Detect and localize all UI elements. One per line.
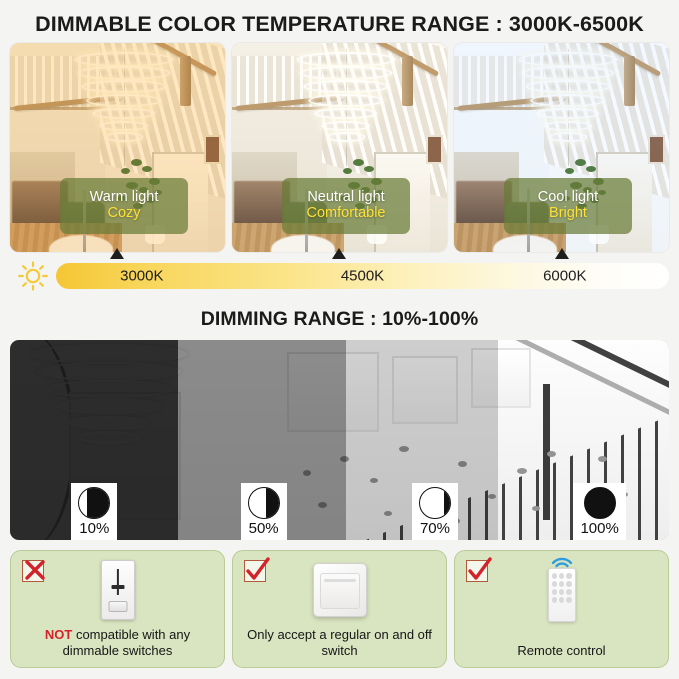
compatibility-card-dimmer-switch: NOT compatible with any dimmable switche… [10, 550, 225, 668]
dimming-range-photo: 10% 50% 70% 100% [10, 340, 669, 540]
remote-control-icon [455, 557, 668, 623]
dim-badge-label: 10% [79, 520, 109, 539]
dim-level-indicator-icon [248, 487, 280, 519]
cct-label-main: Neutral light [307, 190, 384, 206]
cct-label-cool: Cool light Bright [504, 178, 632, 234]
cct-label-neutral: Neutral light Comfortable [282, 178, 410, 234]
compatibility-card-rocker-switch: Only accept a regular on and off switch [232, 550, 447, 668]
compatibility-card-row: NOT compatible with any dimmable switche… [10, 550, 669, 668]
dim-badge-70: 70% [412, 483, 458, 540]
compatibility-card-text: NOT compatible with any dimmable switche… [17, 627, 218, 659]
dim-badge-label: 50% [249, 520, 279, 539]
cct-label-sub: Cozy [107, 206, 140, 222]
dim-badge-10: 10% [71, 483, 117, 540]
page-title-dimming-range: DIMMING RANGE : 10%-100% [0, 308, 679, 331]
compatibility-card-text-rest: compatible with any dimmable switches [63, 627, 191, 658]
ring-chandelier-icon [297, 49, 396, 166]
cct-stop-label-4500k: 4500K [341, 267, 384, 284]
dimmer-switch-icon [11, 557, 224, 623]
cct-stop-label-6000k: 6000K [543, 267, 586, 284]
dim-level-indicator-icon [419, 487, 451, 519]
page-title-color-temperature: DIMMABLE COLOR TEMPERATURE RANGE : 3000K… [0, 12, 679, 37]
color-temperature-gradient-bar: 3000K 4500K 6000K [56, 263, 669, 289]
dim-level-indicator-icon [584, 487, 616, 519]
dim-badge-label: 70% [420, 520, 450, 539]
dim-level-indicator-icon [78, 487, 110, 519]
color-temperature-scale: 3000K 4500K 6000K [10, 261, 669, 290]
ring-chandelier-icon [519, 49, 618, 166]
cct-label-sub: Bright [549, 206, 587, 222]
ring-chandelier-icon [75, 49, 174, 166]
sun-icon [16, 261, 50, 291]
not-emphasis: NOT [45, 627, 72, 642]
cct-marker-4500k [332, 248, 346, 259]
cct-marker-6000k [555, 248, 569, 259]
cct-label-sub: Comfortable [307, 206, 386, 222]
compatibility-card-text: Remote control [461, 643, 662, 659]
cct-label-main: Cool light [538, 190, 598, 206]
cct-label-warm: Warm light Cozy [60, 178, 188, 234]
compatibility-card-remote-control: Remote control [454, 550, 669, 668]
dim-badge-50: 50% [241, 483, 287, 540]
cct-panel-neutral: Neutral light Comfortable [232, 43, 447, 252]
cct-panel-warm: Warm light Cozy [10, 43, 225, 252]
cct-stop-label-3000k: 3000K [120, 267, 163, 284]
cct-marker-row [0, 248, 679, 260]
dim-badge-label: 100% [580, 520, 618, 539]
color-temperature-panel-row: Warm light Cozy [10, 43, 669, 252]
rocker-switch-icon [233, 557, 446, 623]
compatibility-card-text: Only accept a regular on and off switch [239, 627, 440, 659]
cct-marker-3000k [110, 248, 124, 259]
cct-panel-cool: Cool light Bright [454, 43, 669, 252]
infographic-page: DIMMABLE COLOR TEMPERATURE RANGE : 3000K… [0, 0, 679, 679]
dim-badge-100: 100% [573, 483, 625, 540]
cct-label-main: Warm light [90, 190, 159, 206]
